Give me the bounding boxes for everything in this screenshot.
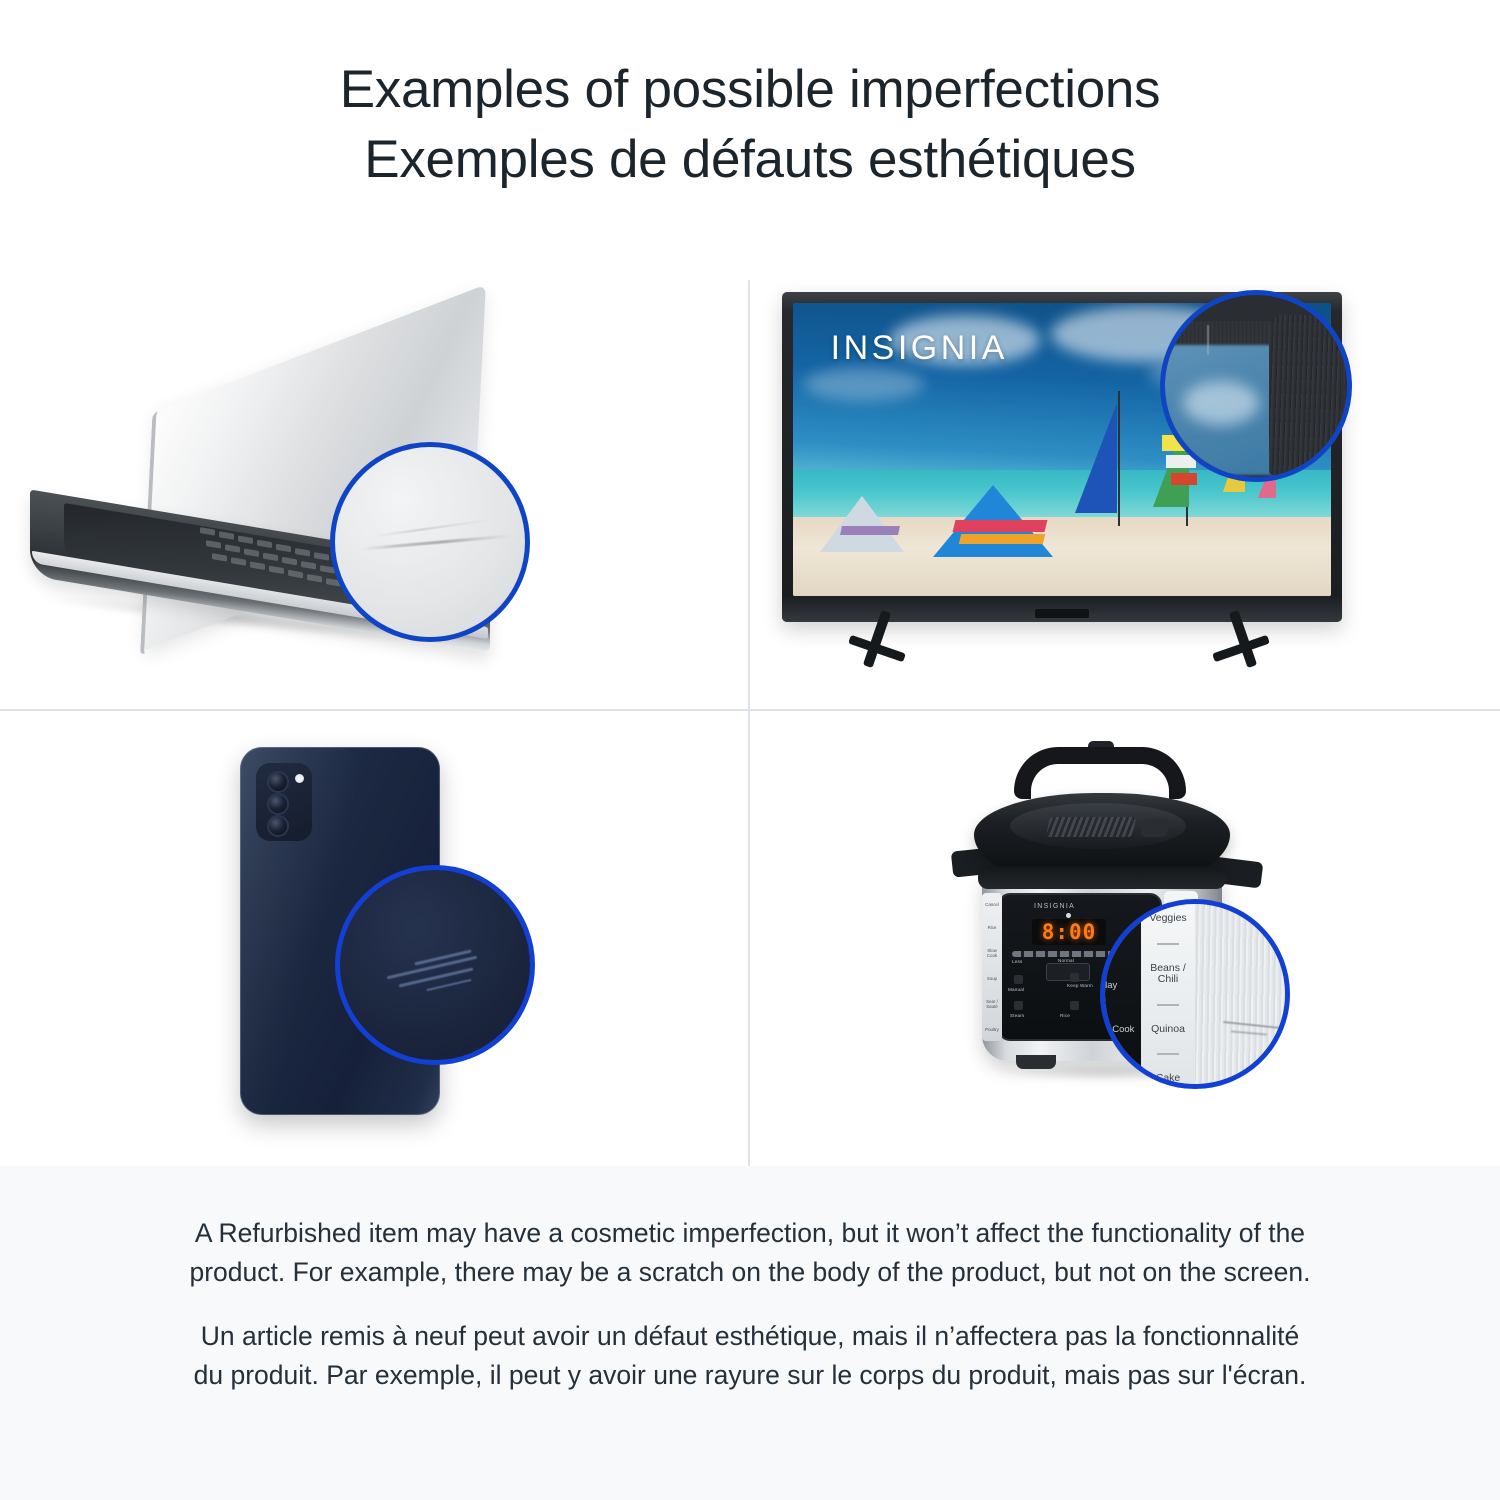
tv-mag-cloud bbox=[1183, 381, 1259, 425]
grid-divider-vertical bbox=[748, 280, 750, 1170]
example-cell-laptop bbox=[0, 250, 748, 707]
disclaimer-footer: A Refurbished item may have a cosmetic i… bbox=[0, 1166, 1500, 1500]
camera-lens-icon bbox=[267, 771, 289, 793]
laptop-scratch-mark bbox=[361, 534, 511, 550]
example-cell-pressure-cooker: INSIGNIA 8:00 Less Normal More Manual Ke… bbox=[752, 711, 1500, 1168]
cooker-brand-logo: INSIGNIA bbox=[1034, 903, 1075, 910]
refurbished-imperfections-infographic: Examples of possible imperfections Exemp… bbox=[0, 0, 1500, 1500]
cooker-left-btn-2[interactable]: Slow Cook bbox=[982, 948, 1002, 958]
cooker-body-collar bbox=[978, 867, 1226, 889]
cooker-display-value: 8:00 bbox=[1042, 920, 1097, 944]
laptop-image bbox=[30, 350, 560, 650]
pressure-cooker-image: INSIGNIA 8:00 Less Normal More Manual Ke… bbox=[952, 741, 1262, 1111]
tv-imperfection-magnifier bbox=[1160, 290, 1352, 482]
cooker-mag-button-column: Veggies Beans / Chili Quinoa Cake bbox=[1141, 899, 1195, 1089]
cooker-label-steam: Steam bbox=[1010, 1013, 1024, 1018]
smartphone-image bbox=[240, 747, 440, 1115]
camera-lens-icon bbox=[267, 793, 289, 815]
page-title-en: Examples of possible imperfections bbox=[340, 55, 1161, 125]
tv-sailboat bbox=[1075, 403, 1117, 513]
cooker-left-btn-1[interactable]: Rice bbox=[988, 925, 997, 930]
tv-screen-brand-logo: INSIGNIA bbox=[831, 329, 1008, 368]
example-cell-television: INSIGNIA bbox=[752, 250, 1500, 707]
cooker-left-btn-5[interactable]: Poultry bbox=[985, 1027, 999, 1032]
cooker-button[interactable] bbox=[1014, 1001, 1023, 1010]
cooker-foot bbox=[1016, 1055, 1056, 1069]
cooker-button[interactable] bbox=[1014, 975, 1023, 984]
cooker-display: 8:00 bbox=[1032, 919, 1106, 945]
product-examples-grid: INSIGNIA bbox=[0, 250, 1500, 1165]
camera-lens-icon bbox=[267, 815, 289, 837]
cooker-indicator-led bbox=[1066, 913, 1071, 918]
tv-sailboat-mast bbox=[1118, 391, 1120, 526]
cooker-button[interactable] bbox=[1070, 1001, 1079, 1010]
cooker-mag-label-beans-chili: Beans / Chili bbox=[1141, 963, 1195, 986]
laptop-imperfection-magnifier bbox=[330, 442, 530, 642]
cooker-button[interactable] bbox=[1070, 973, 1079, 982]
phone-scratch-mark bbox=[426, 979, 471, 991]
cooker-mag-label-slow-cook: Slow Cook bbox=[1100, 1024, 1134, 1035]
disclaimer-paragraph-fr: Un article remis à neuf peut avoir un dé… bbox=[183, 1317, 1318, 1394]
cooker-lid-handle bbox=[1014, 747, 1186, 799]
cooker-label-keep-warm: Keep Warm bbox=[1058, 983, 1102, 988]
cooker-imperfection-magnifier: Delay Slow Cook Veggies Beans / Chili Qu… bbox=[1100, 899, 1290, 1089]
tv-tent-stripe bbox=[840, 526, 900, 535]
example-cell-smartphone bbox=[0, 711, 748, 1168]
cooker-left-btn-4[interactable]: Sear / Sauté bbox=[982, 999, 1002, 1009]
tv-ir-sensor bbox=[1035, 609, 1089, 618]
tv-beach-tent bbox=[820, 496, 904, 552]
tv-tent-stripe bbox=[953, 520, 1048, 532]
cooker-left-button-column[interactable]: Cancel Rice Slow Cook Soup Sear / Sauté … bbox=[982, 893, 1002, 1041]
tv-mag-corner bbox=[1269, 315, 1341, 475]
laptop-scratch-mark-secondary bbox=[373, 519, 492, 538]
page-header: Examples of possible imperfections Exemp… bbox=[0, 0, 1500, 250]
cooker-mag-separator bbox=[1157, 943, 1179, 945]
cooker-select-button[interactable] bbox=[1046, 963, 1090, 981]
cooker-mag-label-delay: Delay bbox=[1100, 980, 1117, 991]
cooker-mag-separator bbox=[1157, 1004, 1179, 1006]
cooker-label-less: Less bbox=[1012, 959, 1023, 964]
cooker-mag-label-quinoa: Quinoa bbox=[1151, 1024, 1185, 1036]
cooker-mag-label-veggies: Veggies bbox=[1149, 913, 1186, 925]
camera-flash-icon bbox=[295, 774, 304, 783]
cooker-left-btn-0[interactable]: Cancel bbox=[985, 902, 999, 907]
cooker-mag-label-cake: Cake bbox=[1156, 1073, 1181, 1085]
tv-scuff-mark bbox=[1207, 325, 1209, 355]
cooker-label-manual: Manual bbox=[1008, 987, 1024, 992]
television-image: INSIGNIA bbox=[782, 292, 1342, 664]
cooker-mag-separator bbox=[1157, 1053, 1179, 1055]
phone-camera-module bbox=[256, 763, 312, 841]
cooker-label-rice: Rice bbox=[1060, 1013, 1070, 1018]
cooker-steam-vent-icon bbox=[1046, 817, 1136, 837]
cooker-mag-stainless-surface bbox=[1195, 899, 1290, 1089]
cooker-pressure-valve-icon bbox=[1140, 819, 1170, 837]
phone-imperfection-magnifier bbox=[335, 865, 535, 1065]
disclaimer-paragraph-en: A Refurbished item may have a cosmetic i… bbox=[183, 1214, 1318, 1291]
page-title-fr: Exemples de défauts esthétiques bbox=[364, 125, 1135, 195]
cooker-left-btn-3[interactable]: Soup bbox=[987, 976, 997, 981]
tv-tent-stripe bbox=[959, 534, 1045, 544]
